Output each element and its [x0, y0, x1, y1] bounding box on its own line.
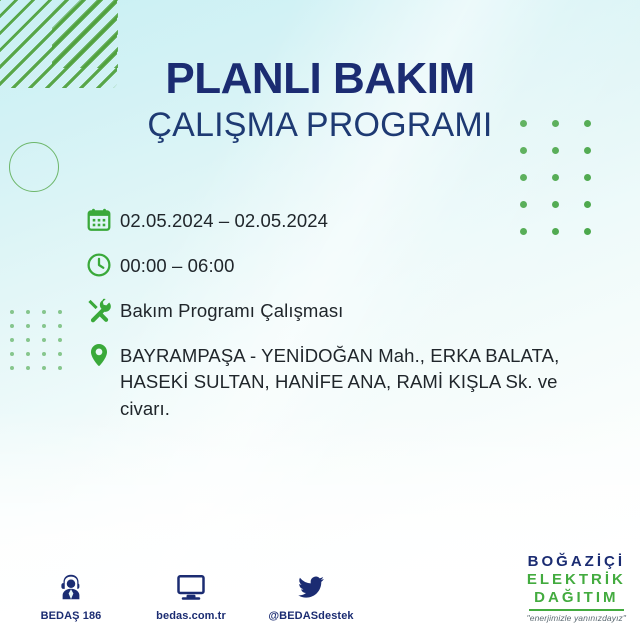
planned-maintenance-poster: PLANLI BAKIM ÇALIŞMA PROGRAMI 02	[0, 0, 640, 640]
logo-line-bogazici: BOĞAZİÇİ	[527, 554, 626, 569]
circle-outline-decor	[9, 142, 59, 192]
dot-decor	[42, 366, 46, 370]
dot-decor	[58, 338, 62, 342]
dot-decor	[58, 310, 62, 314]
detail-date-text: 02.05.2024 – 02.05.2024	[120, 206, 328, 234]
dot-decor	[584, 147, 591, 154]
detail-worktype-text: Bakım Programı Çalışması	[120, 296, 343, 324]
detail-row-date: 02.05.2024 – 02.05.2024	[86, 206, 596, 237]
bedas-logo: BOĞAZİÇİ ELEKTRİK DAĞITIM "enerjimizle y…	[527, 554, 626, 622]
contact-twitter[interactable]: @BEDASdestek	[268, 568, 354, 622]
dot-decor	[26, 366, 30, 370]
detail-address-text: BAYRAMPAŞA - YENİDOĞAN Mah., ERKA BALATA…	[120, 341, 582, 422]
dot-decor	[42, 352, 46, 356]
dot-decor	[58, 366, 62, 370]
detail-row-worktype: Bakım Programı Çalışması	[86, 296, 596, 327]
dot-decor	[10, 352, 14, 356]
dot-decor	[10, 324, 14, 328]
dot-decor	[26, 324, 30, 328]
page-subtitle: ÇALIŞMA PROGRAMI	[0, 106, 640, 144]
logo-line-elektrik: ELEKTRİK	[527, 572, 626, 587]
dot-decor	[552, 147, 559, 154]
page-title: PLANLI BAKIM	[0, 56, 640, 102]
dot-decor	[520, 147, 527, 154]
dot-decor	[584, 174, 591, 181]
dot-decor	[26, 310, 30, 314]
dot-decor	[42, 324, 46, 328]
clock-icon	[86, 251, 120, 282]
dot-decor	[42, 310, 46, 314]
dot-decor	[58, 352, 62, 356]
dot-decor	[42, 338, 46, 342]
contact-call-center[interactable]: BEDAŞ 186	[28, 568, 114, 622]
logo-divider	[529, 609, 624, 611]
dot-decor	[58, 324, 62, 328]
dot-decor	[26, 352, 30, 356]
dot-decor	[10, 366, 14, 370]
poster-header: PLANLI BAKIM ÇALIŞMA PROGRAMI	[0, 56, 640, 144]
contact-website-label: bedas.com.tr	[148, 610, 234, 622]
dot-grid-left-decor	[10, 310, 74, 380]
outage-details: 02.05.2024 – 02.05.2024 00:00 – 06:00 Ba…	[86, 206, 596, 422]
dot-decor	[520, 174, 527, 181]
detail-row-address: BAYRAMPAŞA - YENİDOĞAN Mah., ERKA BALATA…	[86, 341, 596, 422]
headset-operator-icon	[28, 568, 114, 602]
contact-call-center-label: BEDAŞ 186	[28, 610, 114, 622]
dot-decor	[10, 338, 14, 342]
dot-decor	[552, 174, 559, 181]
dot-decor	[10, 310, 14, 314]
twitter-bird-icon	[268, 568, 354, 602]
contact-twitter-label: @BEDASdestek	[268, 610, 354, 622]
dot-decor	[26, 338, 30, 342]
tools-icon	[86, 296, 120, 327]
detail-row-time: 00:00 – 06:00	[86, 251, 596, 282]
logo-tagline: "enerjimizle yanınızdayız"	[527, 614, 626, 623]
logo-line-dagitim: DAĞITIM	[527, 590, 626, 605]
detail-time-text: 00:00 – 06:00	[120, 251, 234, 279]
footer-contacts: BEDAŞ 186 bedas.com.tr @BEDASdestek	[28, 568, 354, 622]
location-pin-icon	[86, 341, 120, 372]
monitor-icon	[148, 568, 234, 602]
contact-website[interactable]: bedas.com.tr	[148, 568, 234, 622]
calendar-icon	[86, 206, 120, 237]
